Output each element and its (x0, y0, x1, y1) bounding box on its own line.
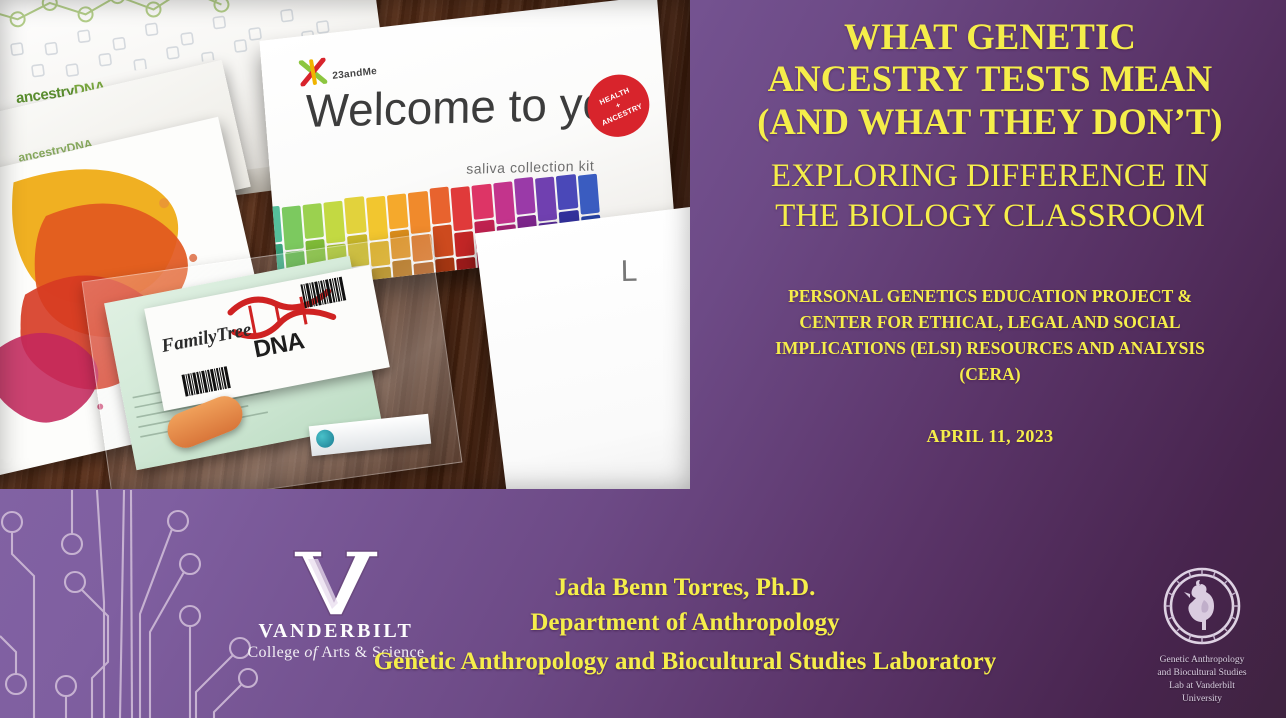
organization-line-2: CENTER FOR ETHICAL, LEGAL AND SOCIAL (799, 312, 1180, 332)
lab-logo: Genetic Anthropology and Biocultural Stu… (1128, 560, 1276, 706)
organization-credit: PERSONAL GENETICS EDUCATION PROJECT & CE… (712, 284, 1268, 388)
organization-line-3: IMPLICATIONS (ELSI) RESOURCES AND ANALYS… (775, 338, 1205, 358)
lab-logo-text: Genetic Anthropology and Biocultural Stu… (1128, 654, 1276, 706)
photo-vignette (0, 0, 690, 489)
dna-test-kits-photo: ancestryDNA ancestryDNA (0, 0, 690, 489)
circuit-board-decoration-icon (0, 482, 260, 718)
page-title: WHAT GENETIC ANCESTRY TESTS MEAN (AND WH… (694, 0, 1286, 143)
presenter-block: Jada Benn Torres, Ph.D. Department of An… (290, 572, 1080, 680)
title-line-1: WHAT GENETIC (844, 16, 1136, 57)
presenter-name: Jada Benn Torres, Ph.D. (290, 572, 1080, 605)
presentation-slide: ancestryDNA ancestryDNA (0, 0, 1286, 718)
title-line-3: (AND WHAT THEY DON’T) (757, 101, 1223, 142)
title-line-2: ANCESTRY TESTS MEAN (768, 58, 1213, 99)
lab-logo-line-3: Lab at Vanderbilt (1169, 681, 1235, 691)
dna-circle-rooster-icon (1156, 560, 1248, 652)
lab-logo-line-1: Genetic Anthropology (1160, 655, 1245, 665)
slide-text-column: WHAT GENETIC ANCESTRY TESTS MEAN (AND WH… (694, 0, 1286, 540)
page-subtitle: EXPLORING DIFFERENCE IN THE BIOLOGY CLAS… (694, 157, 1286, 236)
presenter-department: Department of Anthropology (290, 605, 1080, 641)
lab-logo-line-4: University (1182, 694, 1222, 704)
lab-logo-line-2: and Biocultural Studies (1157, 668, 1246, 678)
presentation-date: APRIL 11, 2023 (694, 426, 1286, 447)
presenter-lab: Genetic Anthropology and Biocultural Stu… (290, 643, 1080, 681)
subtitle-line-1: EXPLORING DIFFERENCE IN (771, 158, 1209, 194)
organization-line-4: (CERA) (959, 364, 1020, 384)
subtitle-line-2: THE BIOLOGY CLASSROOM (775, 198, 1205, 234)
organization-line-1: PERSONAL GENETICS EDUCATION PROJECT & (788, 286, 1192, 306)
